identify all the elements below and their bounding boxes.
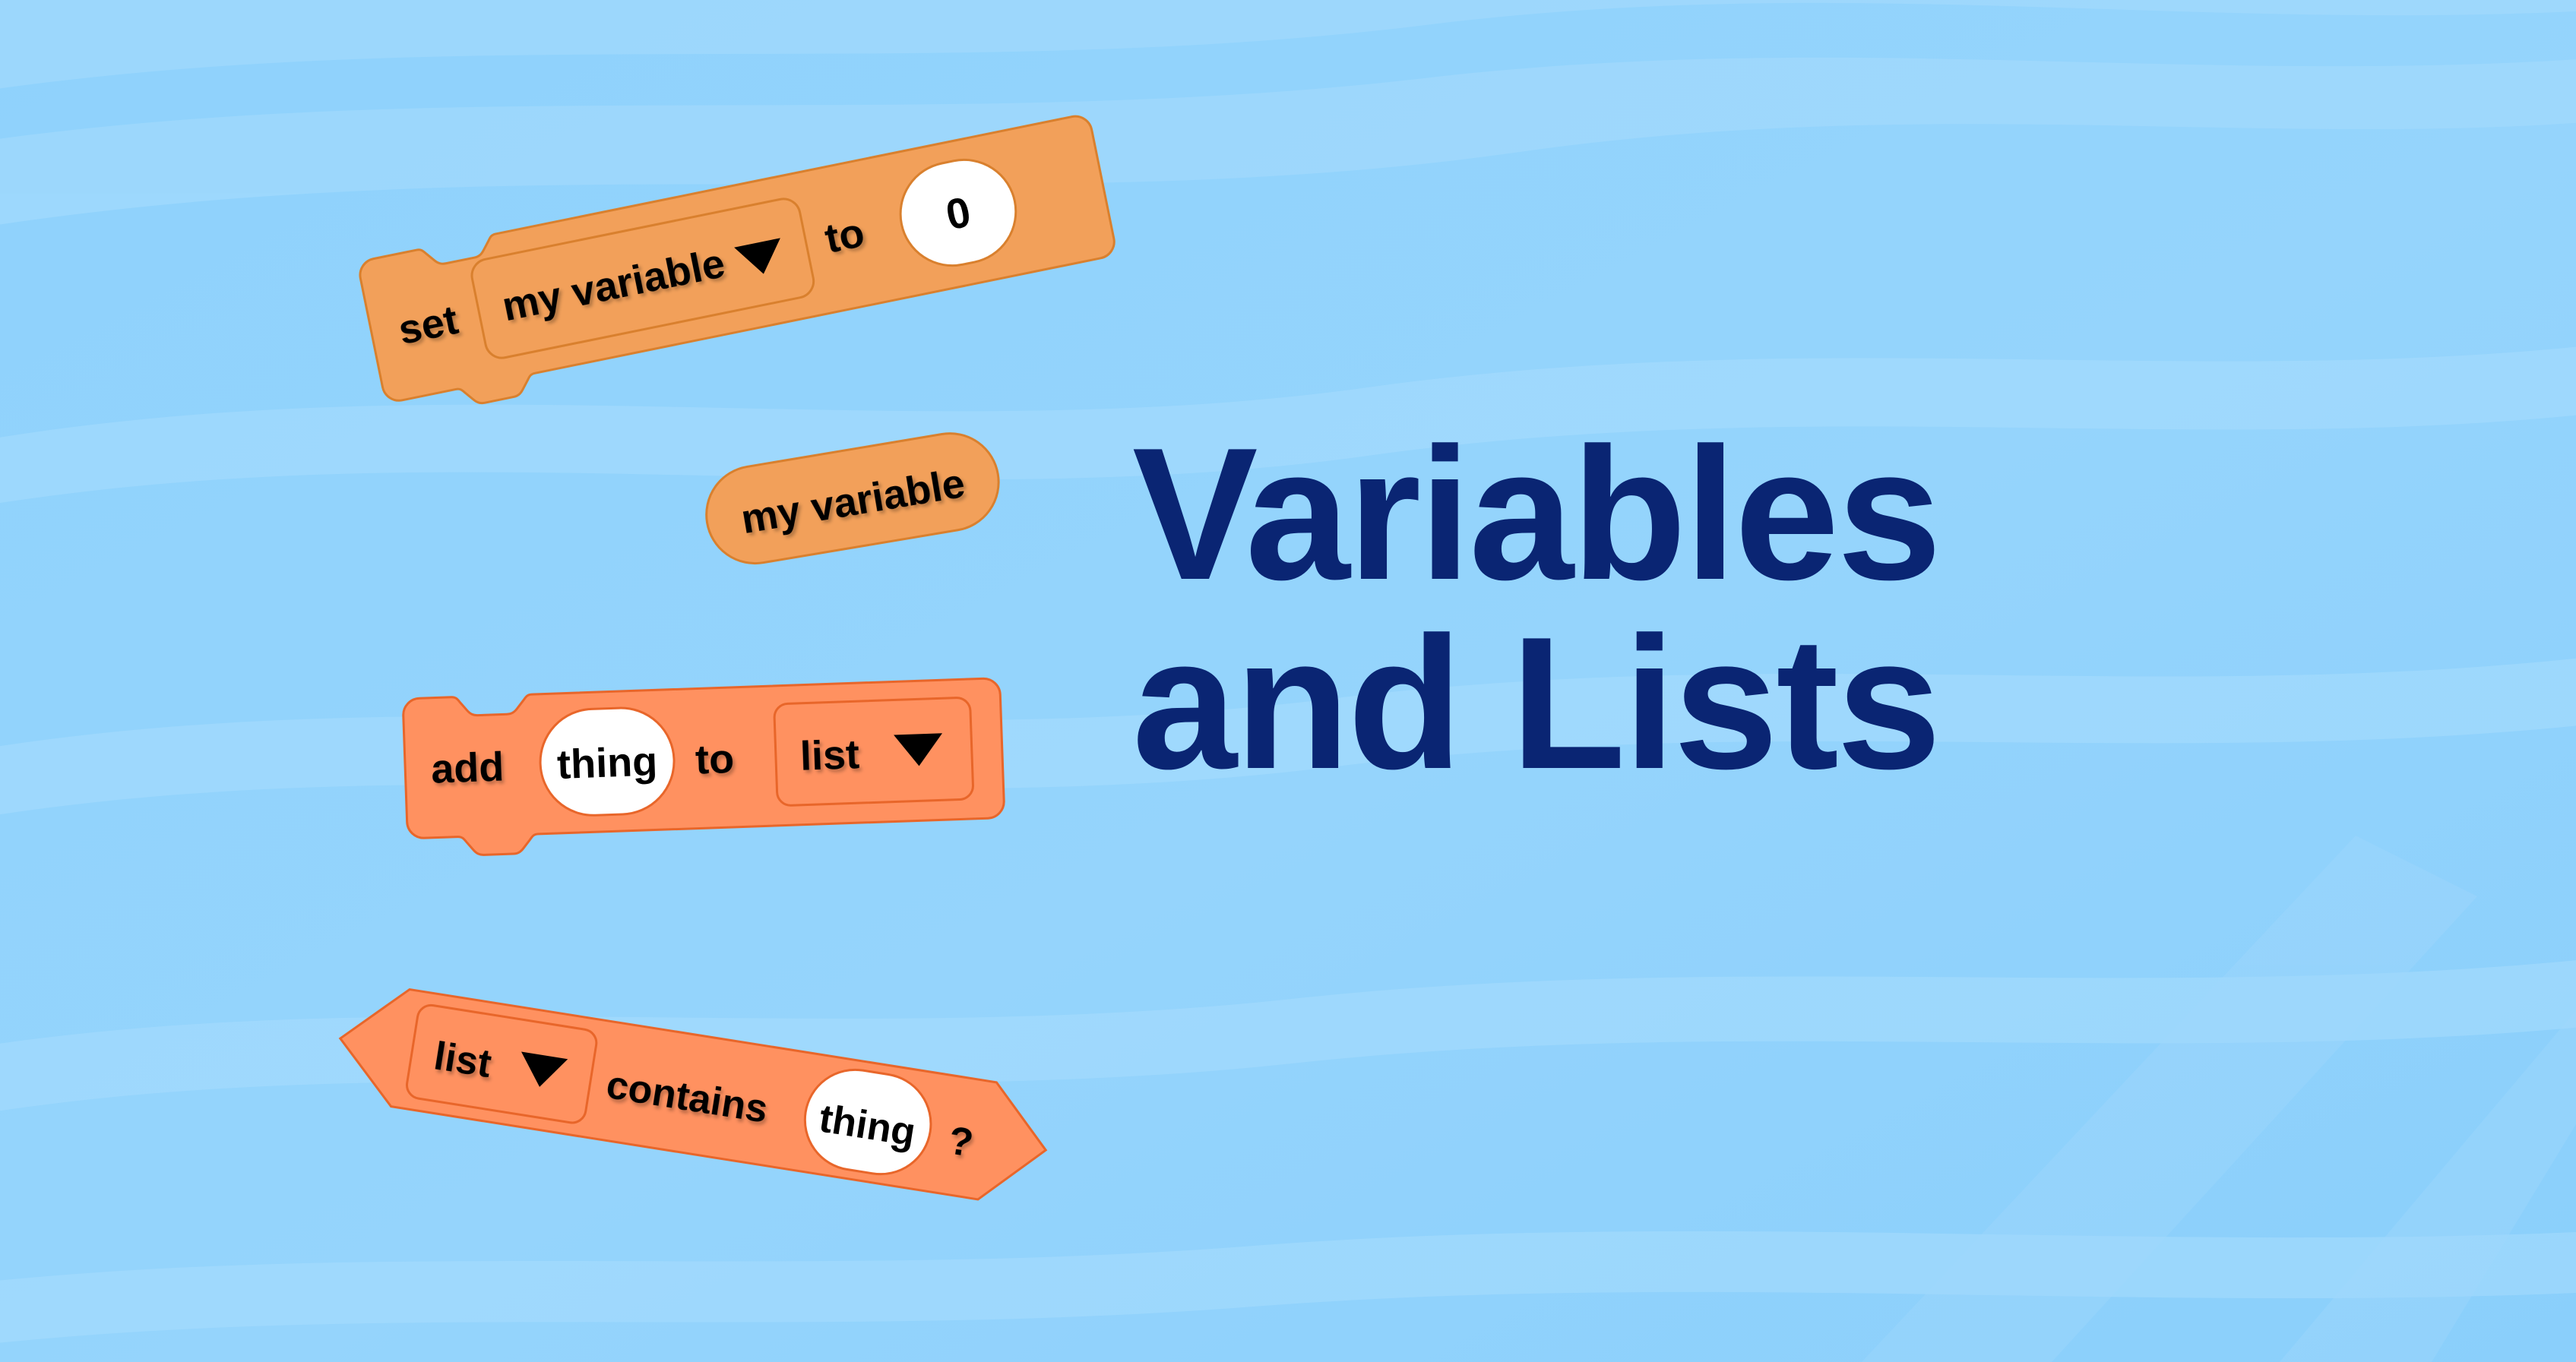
- list-dropdown[interactable]: list: [774, 697, 974, 806]
- title-line-1: Variables: [1132, 425, 2272, 602]
- item-input-text: thing: [556, 738, 658, 788]
- title-line-2: and Lists: [1132, 615, 2272, 792]
- set-variable-to-block[interactable]: set my variable to 0: [357, 113, 1121, 422]
- list-dropdown-label: list: [799, 732, 860, 779]
- to-label: to: [695, 736, 735, 783]
- poster-canvas: set my variable to 0 my variable: [0, 0, 2576, 1362]
- item-input[interactable]: thing: [539, 706, 676, 817]
- page-title: Variables and Lists: [1132, 425, 2272, 792]
- my-variable-reporter[interactable]: my variable: [699, 426, 1006, 570]
- list-contains-thing-boolean[interactable]: list contains thing ?: [331, 980, 1055, 1209]
- add-thing-to-list-block[interactable]: add thing to list: [403, 678, 1005, 858]
- list-dropdown-label: list: [431, 1034, 494, 1086]
- add-label: add: [430, 744, 505, 792]
